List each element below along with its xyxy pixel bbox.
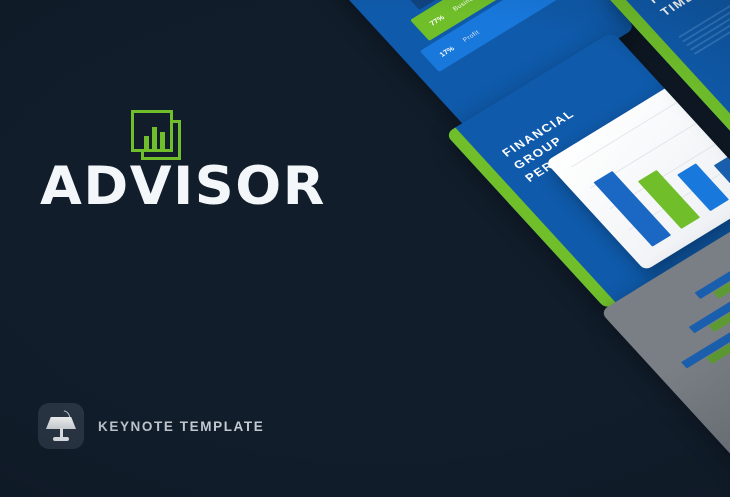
logo-bar-2 xyxy=(152,127,157,149)
slide-mockup-grid: OUR COMPANY IN NUMBERS 17% Amount Of Inv… xyxy=(262,0,730,423)
logo-bar-chart-icon xyxy=(144,123,170,149)
podium-base xyxy=(53,437,69,441)
logo-bar-1 xyxy=(144,136,149,149)
badge-label: KEYNOTE TEMPLATE xyxy=(98,419,264,434)
keynote-template-badge: KEYNOTE TEMPLATE xyxy=(38,403,264,449)
logo-bar-3 xyxy=(160,132,165,149)
keynote-podium-icon xyxy=(38,403,84,449)
brand-panel: ADVISOR KEYNOTE TEMPLATE xyxy=(0,0,330,497)
stat-label: Profit xyxy=(461,29,480,43)
stat-value: 17% xyxy=(427,37,467,64)
logo-front-square xyxy=(131,110,173,152)
brand-wordmark: ADVISOR xyxy=(40,160,295,213)
stat-value: 77% xyxy=(417,6,457,33)
poster-stage: ADVISOR KEYNOTE TEMPLATE OUR COMPANY IN … xyxy=(0,0,730,497)
